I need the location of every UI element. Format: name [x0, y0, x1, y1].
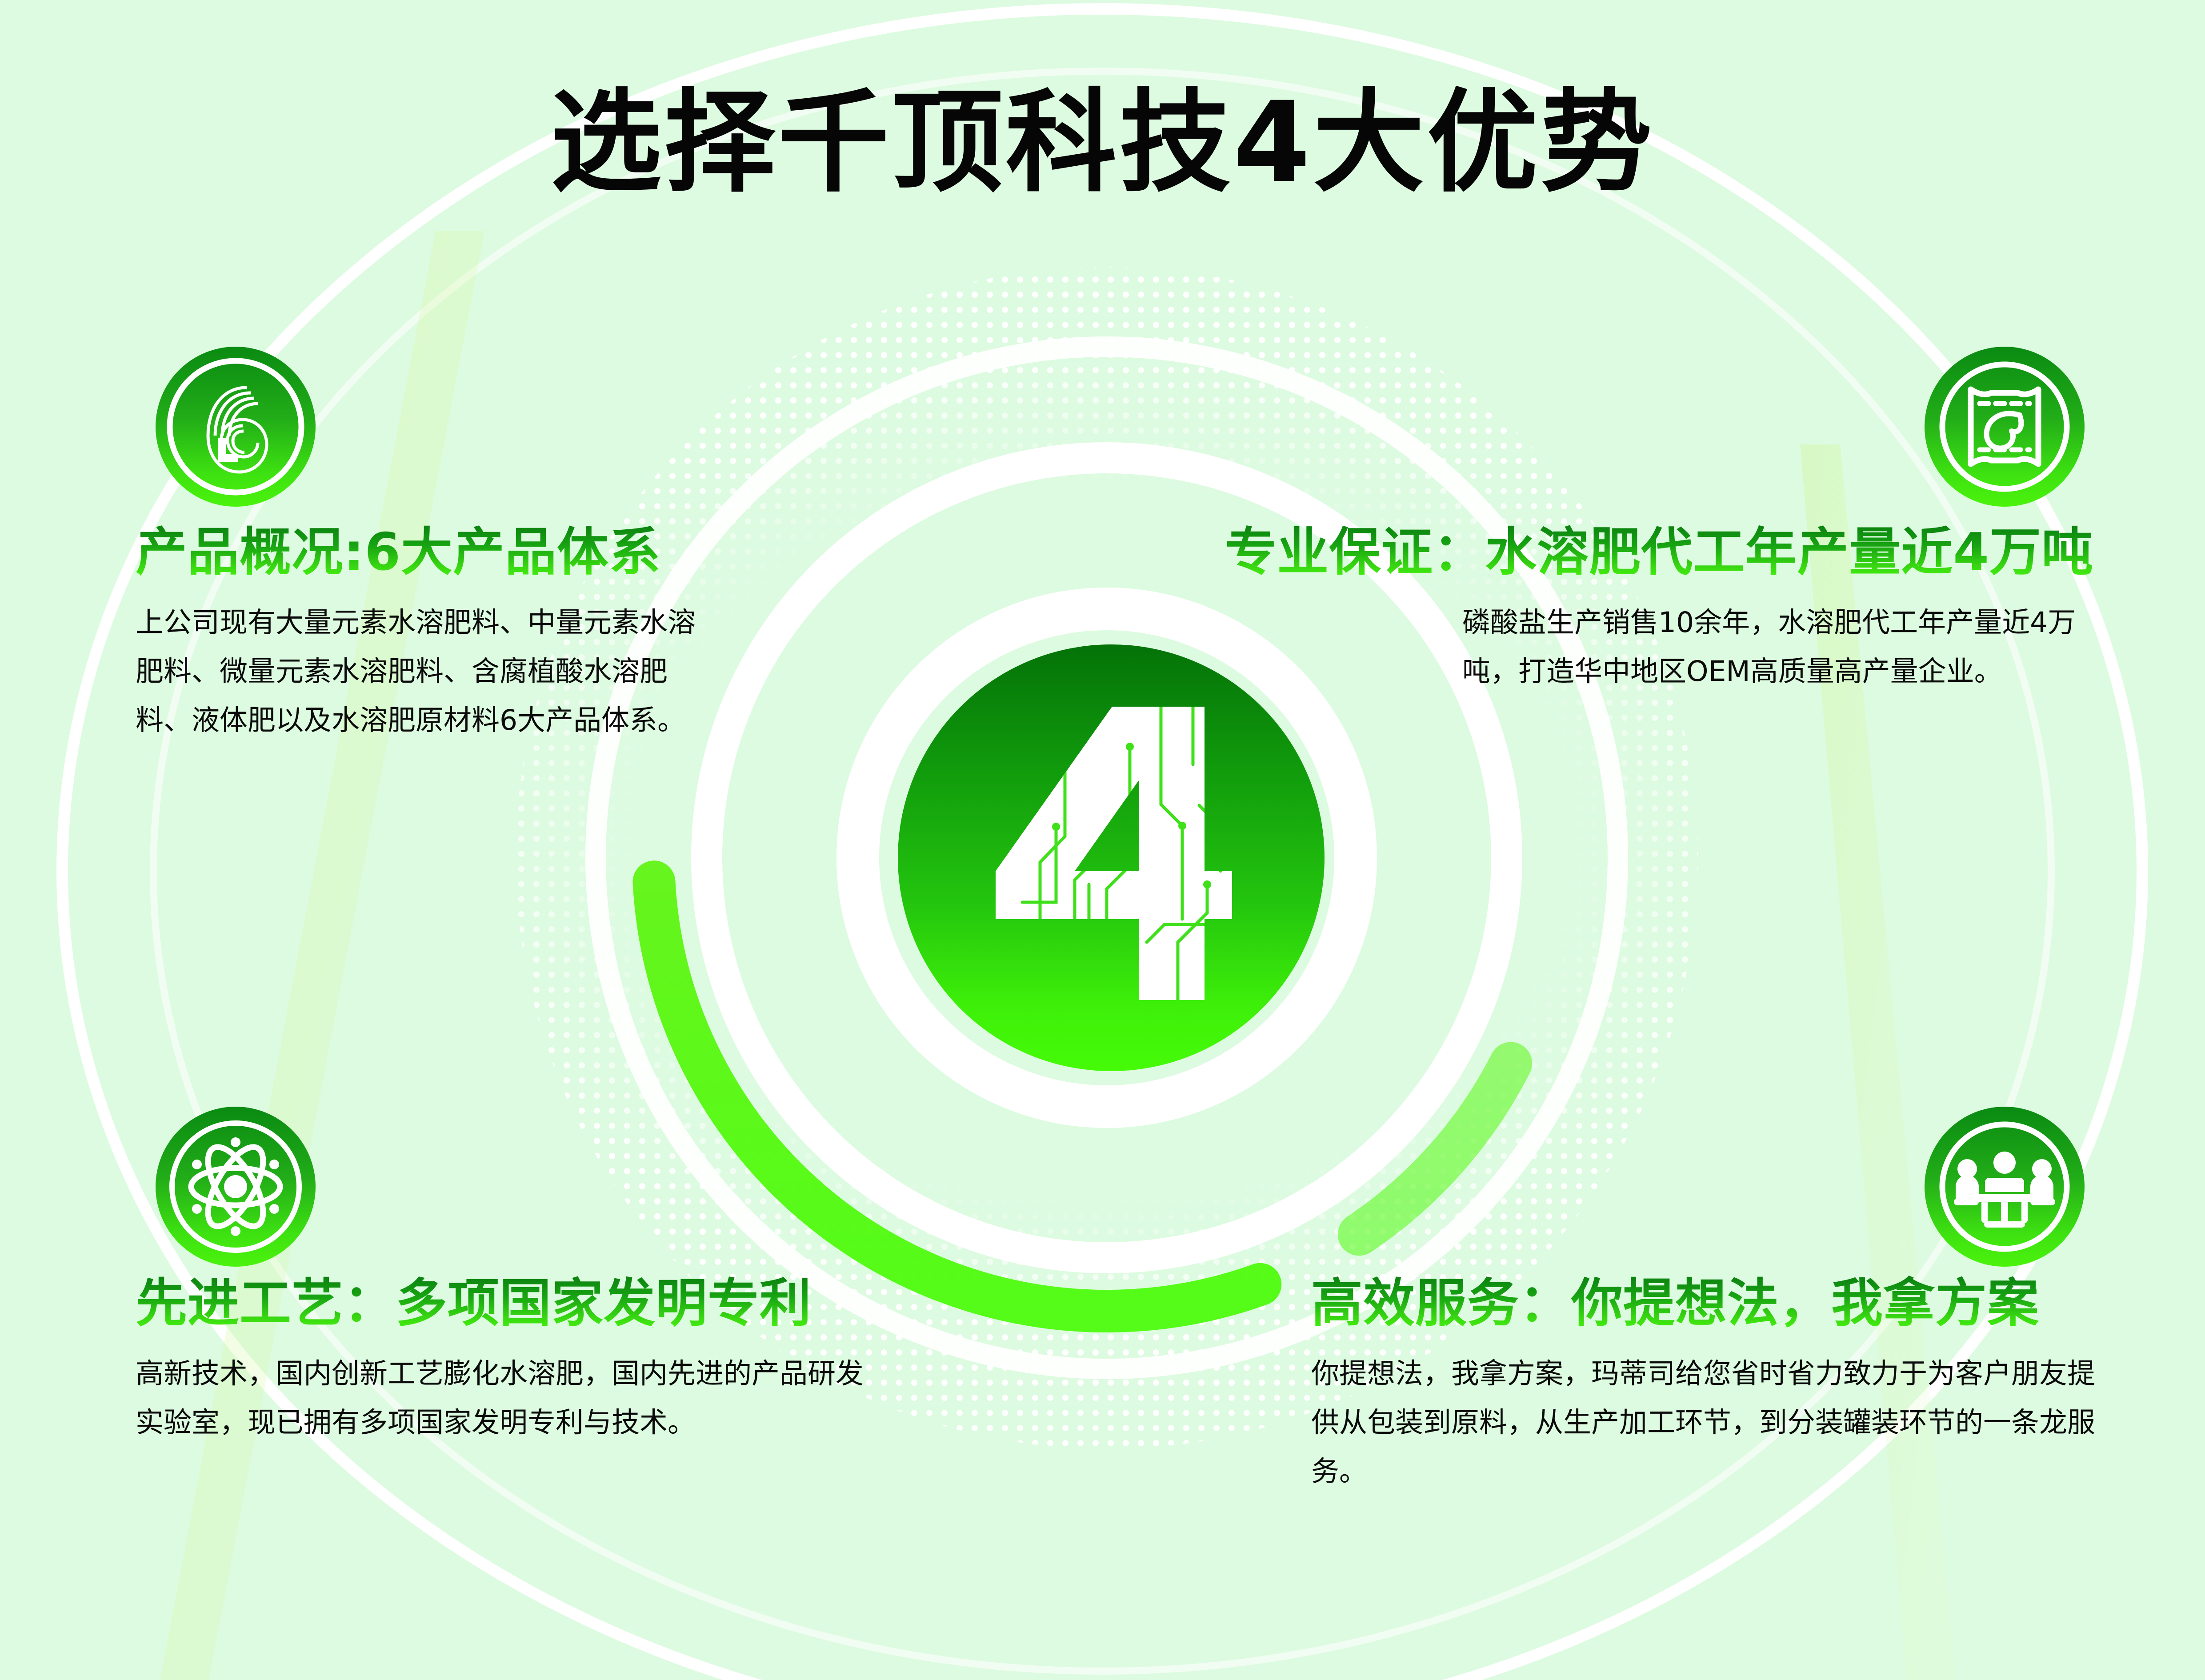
badge-fertilizer-bag[interactable]	[1925, 347, 2085, 507]
feature-top-right: 专业保证：水溶肥代工年产量近4万吨 磷酸盐生产销售10余年，水溶肥代工年产量近4…	[1173, 522, 2093, 696]
feature-heading-top-right: 专业保证：水溶肥代工年产量近4万吨	[1173, 522, 2093, 583]
feature-body-bottom-left: 高新技术，国内创新工艺膨化水溶肥，国内先进的产品研发实验室，现已拥有多项国家发明…	[136, 1349, 891, 1448]
feature-heading-bottom-right: 高效服务：你提想法，我拿方案	[1311, 1273, 2111, 1334]
infographic-canvas: 选择千顶科技4大优势	[0, 0, 2205, 1680]
number-six-spiral-icon	[156, 347, 316, 507]
atom-icon	[156, 1107, 316, 1267]
feature-bottom-right: 高效服务：你提想法，我拿方案 你提想法，我拿方案，玛蒂司给您省时省力致力于为客户…	[1311, 1273, 2111, 1496]
feature-body-bottom-right: 你提想法，我拿方案，玛蒂司给您省时省力致力于为客户朋友提供从包装到原料，从生产加…	[1311, 1349, 2107, 1496]
feature-body-top-left: 上公司现有大量元素水溶肥料、中量元素水溶肥料、微量元素水溶肥料、含腐植酸水溶肥料…	[136, 598, 700, 745]
feature-body-top-right: 磷酸盐生产销售10余年，水溶肥代工年产量近4万吨，打造华中地区OEM高质量高产量…	[1462, 598, 2093, 696]
badge-atom[interactable]	[156, 1107, 316, 1267]
feature-top-left: 产品概况:6大产品体系 上公司现有大量元素水溶肥料、中量元素水溶肥料、微量元素水…	[136, 522, 713, 745]
meeting-people-icon	[1925, 1107, 2085, 1267]
page-title: 选择千顶科技4大优势	[0, 84, 2205, 201]
feature-heading-bottom-left: 先进工艺：多项国家发明专利	[136, 1273, 918, 1334]
fertilizer-bag-icon	[1925, 347, 2085, 507]
number-four-circuit-icon	[956, 693, 1267, 1022]
feature-heading-top-left: 产品概况:6大产品体系	[136, 522, 713, 583]
badge-number-six[interactable]	[156, 347, 316, 507]
badge-meeting-people[interactable]	[1925, 1107, 2085, 1267]
center-number-medallion	[898, 644, 1325, 1071]
feature-bottom-left: 先进工艺：多项国家发明专利 高新技术，国内创新工艺膨化水溶肥，国内先进的产品研发…	[136, 1273, 918, 1447]
